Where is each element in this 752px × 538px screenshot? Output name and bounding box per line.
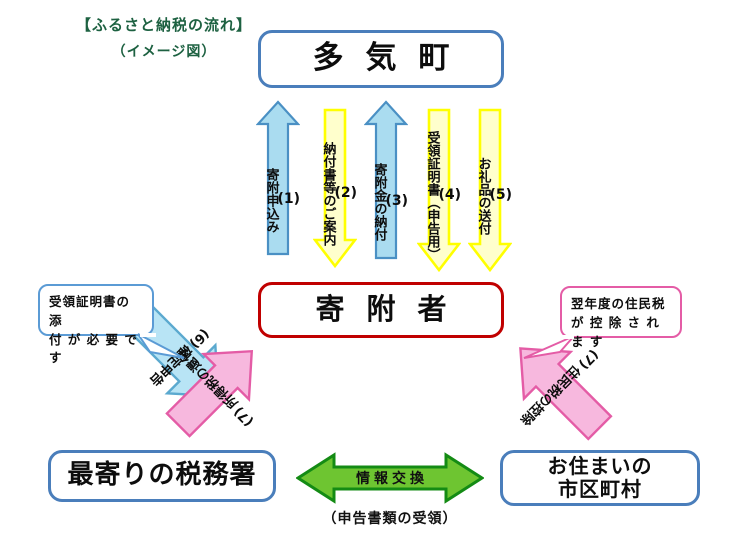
callout-right-line2: が 控 除 さ れ ま す [571,314,671,352]
flow-arrow-2: (2) 納付書等のご案内 [313,108,357,268]
flow-arrow-1: (1) 寄附申込み [256,100,300,256]
callout-tail-left-icon [136,332,188,362]
flow-num-1: (1) [277,192,300,206]
flow-arrow-5: (5) お礼品の送付 [468,108,512,272]
callout-left-line2: 付 が 必 要 で す [49,331,143,369]
flow-arrow-3: (3) 寄附金の納付 [364,100,408,260]
flow-text-1: 寄附申込み [264,168,277,233]
callout-tail-right-icon [520,332,576,362]
flow-num-3: (3) [385,194,408,208]
entity-label-tax-office: 最寄りの税務署 [67,461,256,491]
flow-num-7-income: (7) [231,404,256,429]
exchange-double-arrow-icon [296,452,484,504]
entity-label-town: 多気町 [291,41,472,77]
flow-label-3: (3) 寄附金の納付 [364,100,408,282]
flow-arrow-4: (4) 受領証明書（申告用） [417,108,461,272]
entity-box-tax-office: 最寄りの税務署 [48,450,276,502]
callout-bubble-left: 受領証明書の添 付 が 必 要 で す [38,284,154,336]
title-sub: （イメージ図） [44,41,284,61]
diagram-canvas: 【ふるさと納税の流れ】 （イメージ図） 多気町 寄附者 最寄りの税務署 お住まい… [0,0,752,538]
entity-box-town: 多気町 [258,30,504,88]
flow-text-5: お礼品の送付 [476,157,489,235]
diagram-title: 【ふるさと納税の流れ】 （イメージ図） [44,14,284,61]
flow-label-4: (4) 受領証明書（申告用） [417,108,461,278]
entity-label-donor: 寄附者 [293,293,468,326]
entity-label-city-line1: お住まいの [548,454,653,478]
flow-label-5: (5) お礼品の送付 [468,108,512,278]
flow-num-2: (2) [334,186,357,200]
flow-num-5: (5) [489,188,512,202]
callout-left-line1: 受領証明書の添 [49,293,143,331]
flow-num-4: (4) [438,188,461,202]
flow-text-3: 寄附金の納付 [372,163,385,241]
flow-text-4: 受領証明書（申告用） [425,131,438,261]
entity-box-city: お住まいの 市区町村 [500,450,700,506]
callout-bubble-right: 翌年度の住民税 が 控 除 さ れ ま す [560,286,682,338]
flow-label-1: (1) 寄附申込み [256,100,300,278]
entity-box-donor: 寄附者 [258,282,504,338]
entity-label-city: お住まいの 市区町村 [548,455,653,501]
flow-label-2: (2) 納付書等のご案内 [313,108,357,274]
entity-label-city-line2: 市区町村 [548,478,653,501]
flow-text-7-resident: 住民税の控除 [517,362,586,431]
title-main: 【ふるさと納税の流れ】 [44,14,284,35]
flow-text-2: 納付書等のご案内 [321,142,334,246]
exchange-caption: （申告書類の受領） [286,508,494,528]
callout-right-line1: 翌年度の住民税 [571,295,671,314]
